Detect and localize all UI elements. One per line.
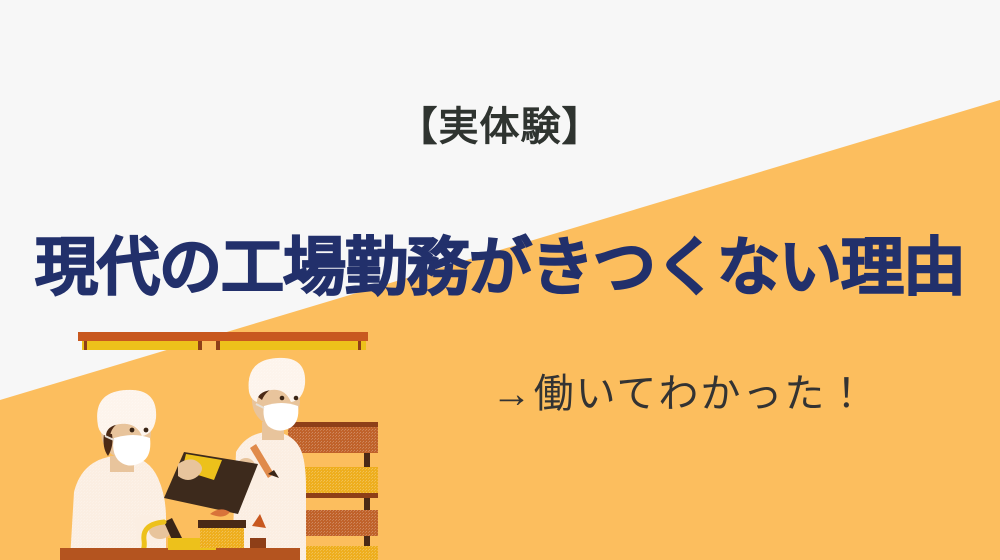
ceiling-lamp-icon [78,332,368,350]
worker-at-bench [70,390,190,560]
eyecatch-canvas: 【実体験】 現代の工場勤務がきつくない理由 →働いてわかった！ [0,0,1000,560]
kicker-text: 【実体験】 [0,104,1000,150]
factory-workers-illustration [60,330,400,560]
subtitle-text: →働いてわかった！ [420,370,940,418]
page-title: 現代の工場勤務がきつくない理由 [0,231,1000,305]
